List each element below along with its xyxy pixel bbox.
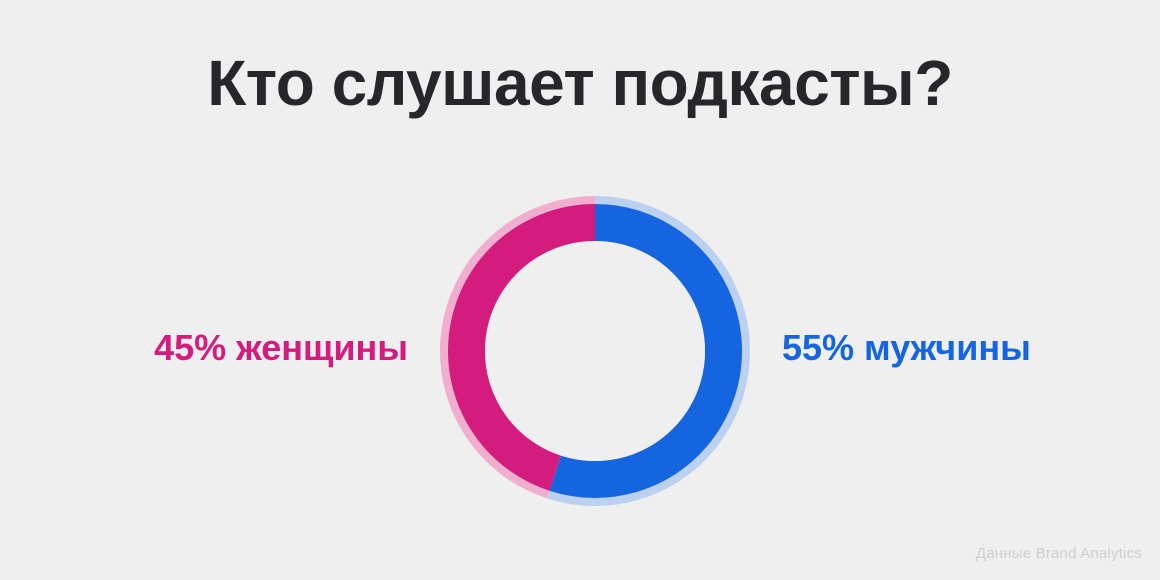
donut-chart (440, 196, 750, 506)
donut-hole (485, 241, 705, 461)
page-title: Кто слушает подкасты? (0, 50, 1160, 117)
legend-label-men: 55% мужчины (782, 326, 1112, 370)
donut-chart-svg (440, 196, 750, 506)
legend-label-women: 45% женщины (0, 326, 408, 370)
data-source-attribution: Данные Brand Analytics (976, 545, 1142, 562)
infographic-canvas: Кто слушает подкасты? 45% женщины 55% му… (0, 0, 1160, 580)
